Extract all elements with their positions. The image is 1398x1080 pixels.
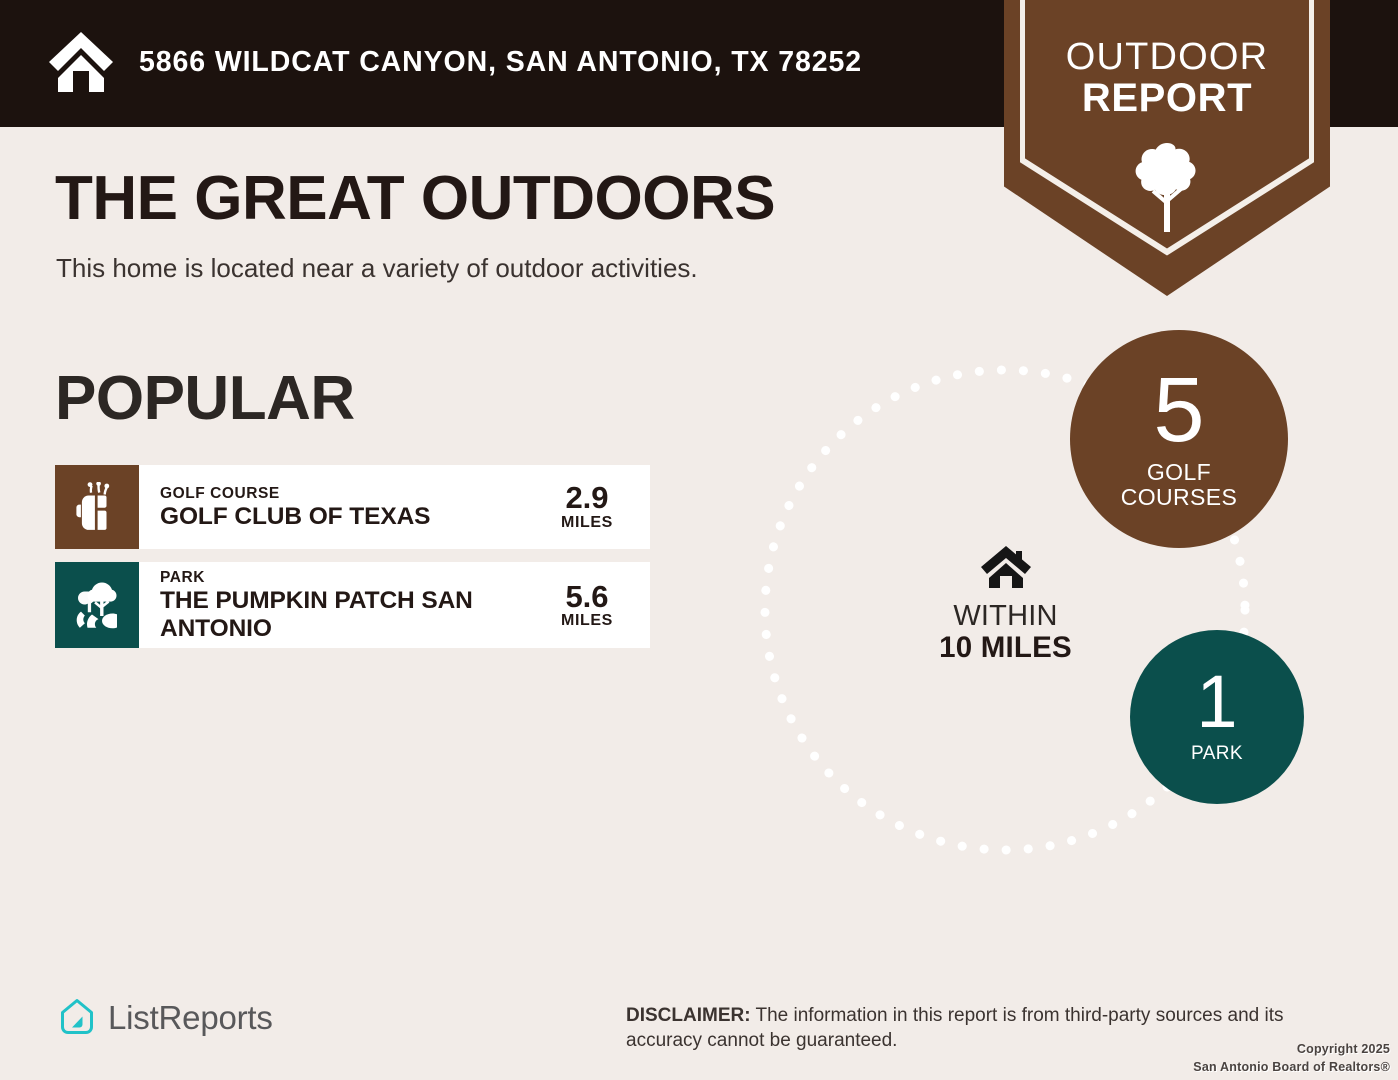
list-item-category: GOLF COURSE	[160, 484, 532, 503]
list-item-category: PARK	[160, 568, 532, 587]
property-address: 5866 WILDCAT CANYON, SAN ANTONIO, TX 782…	[139, 48, 862, 77]
distance-value: 5.6	[532, 581, 642, 613]
list-item-body: PARK THE PUMPKIN PATCH SAN ANTONIO 5.6 M…	[139, 562, 650, 648]
distance-unit: MILES	[532, 612, 642, 630]
stat-label-line1: GOLF	[1121, 460, 1238, 484]
golf-bag-icon	[74, 482, 120, 532]
radial-summary: WITHIN 10 MILES 5 GOLF COURSES 1 PARK	[740, 330, 1340, 910]
home-icon	[918, 545, 1093, 589]
listreports-wordmark: ListReports	[108, 1001, 273, 1034]
golf-course-icon-box	[55, 465, 139, 549]
popular-heading: POPULAR	[55, 368, 355, 430]
stat-label: GOLF COURSES	[1121, 460, 1238, 509]
disclaimer-label: DISCLAIMER:	[626, 1005, 751, 1026]
page-subtitle: This home is located near a variety of o…	[56, 255, 698, 281]
badge-line-2: REPORT	[1004, 78, 1330, 120]
badge-line-1: OUTDOOR	[1004, 38, 1330, 78]
stat-count: 1	[1196, 672, 1237, 733]
within-radius-block: WITHIN 10 MILES	[918, 545, 1093, 663]
list-item-name: THE PUMPKIN PATCH SAN ANTONIO	[160, 587, 520, 642]
list-item[interactable]: GOLF COURSE GOLF CLUB OF TEXAS 2.9 MILES	[55, 465, 650, 549]
page-title: THE GREAT OUTDOORS	[55, 168, 775, 230]
tree-icon	[1131, 141, 1203, 233]
park-trees-icon	[74, 580, 120, 630]
stat-circle-parks[interactable]: 1 PARK	[1130, 630, 1304, 804]
listreports-logo[interactable]: ListReports	[57, 997, 273, 1037]
distance-unit: MILES	[532, 514, 642, 532]
listreports-house-icon	[57, 997, 97, 1037]
copyright-line-1: Copyright 2025	[970, 1040, 1390, 1058]
stat-circle-golf-courses[interactable]: 5 GOLF COURSES	[1070, 330, 1288, 548]
copyright-line-2: San Antonio Board of Realtors®	[970, 1058, 1390, 1076]
stat-label-line2: COURSES	[1121, 485, 1238, 509]
home-icon	[45, 26, 117, 98]
header-content: 5866 WILDCAT CANYON, SAN ANTONIO, TX 782…	[45, 26, 862, 98]
list-item-distance: 2.9 MILES	[532, 482, 650, 531]
list-item-body: GOLF COURSE GOLF CLUB OF TEXAS 2.9 MILES	[139, 465, 650, 549]
distance-value: 2.9	[532, 482, 642, 514]
within-value: 10 MILES	[918, 632, 1093, 663]
list-item-name: GOLF CLUB OF TEXAS	[160, 503, 520, 530]
badge-title: OUTDOOR REPORT	[1004, 38, 1330, 119]
park-icon-box	[55, 562, 139, 648]
list-item[interactable]: PARK THE PUMPKIN PATCH SAN ANTONIO 5.6 M…	[55, 562, 650, 648]
stat-label: PARK	[1191, 744, 1243, 764]
stat-count: 5	[1153, 373, 1204, 448]
within-label: WITHIN	[918, 601, 1093, 632]
copyright: Copyright 2025 San Antonio Board of Real…	[970, 1040, 1390, 1076]
popular-list: GOLF COURSE GOLF CLUB OF TEXAS 2.9 MILES	[55, 465, 650, 661]
list-item-distance: 5.6 MILES	[532, 581, 650, 630]
